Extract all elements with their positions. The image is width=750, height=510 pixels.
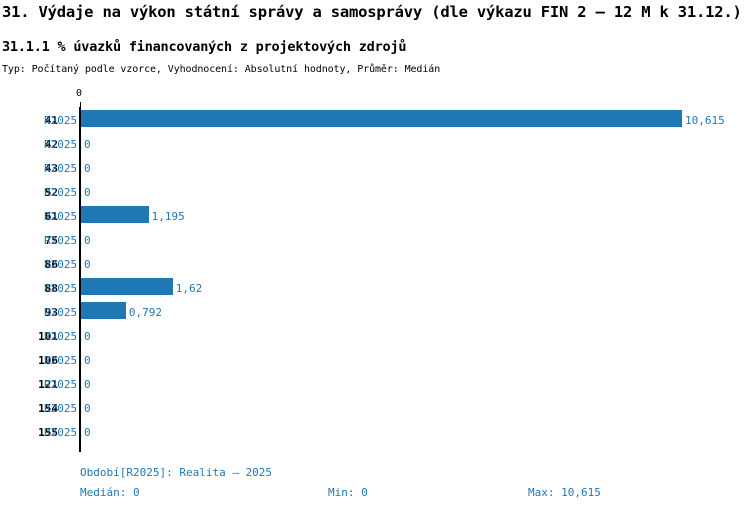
row-series-label: R2025 (44, 378, 77, 391)
bar-row: 93R20250,792 (0, 299, 750, 323)
bar-row: 88R20251,62 (0, 275, 750, 299)
stat-min: Min: 0 (328, 486, 368, 499)
legend-period: Období[R2025]: Realita – 2025 (80, 466, 272, 479)
bar-value-label: 0 (84, 234, 91, 247)
row-series-label: R2025 (44, 162, 77, 175)
row-series-label: R2025 (44, 330, 77, 343)
x-axis-tick-label-0: 0 (76, 88, 82, 99)
bar[interactable] (81, 278, 173, 295)
chart-page: 31. Výdaje na výkon státní správy a samo… (0, 0, 750, 510)
bar-value-label: 0 (84, 426, 91, 439)
bar-value-label: 0 (84, 258, 91, 271)
row-series-label: R2025 (44, 138, 77, 151)
bar-value-label: 10,615 (685, 114, 725, 127)
bar-value-label: 0 (84, 186, 91, 199)
page-title: 31. Výdaje na výkon státní správy a samo… (2, 3, 742, 21)
bar-row: 154R20250 (0, 395, 750, 419)
bar-row: 86R20250 (0, 251, 750, 275)
bar-row: 155R20250 (0, 419, 750, 443)
bar-value-label: 1,62 (176, 282, 203, 295)
row-series-label: R2025 (44, 306, 77, 319)
row-series-label: R2025 (44, 258, 77, 271)
bar-value-label: 0,792 (129, 306, 162, 319)
bar[interactable] (81, 302, 126, 319)
bar-value-label: 0 (84, 378, 91, 391)
row-series-label: R2025 (44, 282, 77, 295)
row-series-label: R2025 (44, 354, 77, 367)
row-series-label: R2025 (44, 114, 77, 127)
bar-row: 101R20250 (0, 323, 750, 347)
bar[interactable] (81, 206, 149, 223)
stat-max: Max: 10,615 (528, 486, 601, 499)
row-series-label: R2025 (44, 186, 77, 199)
bar-row: 121R20250 (0, 371, 750, 395)
bar[interactable] (81, 110, 682, 127)
bar-row: 106R20250 (0, 347, 750, 371)
stat-median: Medián: 0 (80, 486, 140, 499)
bar-value-label: 1,195 (152, 210, 185, 223)
bar-row: 43R20250 (0, 155, 750, 179)
bar-value-label: 0 (84, 402, 91, 415)
chart-meta-line: Typ: Počítaný podle vzorce, Vyhodnocení:… (2, 64, 440, 75)
row-series-label: R2025 (44, 234, 77, 247)
bar-value-label: 0 (84, 354, 91, 367)
bar-row: 52R20250 (0, 179, 750, 203)
bar-chart: 0 41R202510,61542R2025043R2025052R202506… (0, 88, 750, 468)
row-series-label: R2025 (44, 210, 77, 223)
bar-value-label: 0 (84, 330, 91, 343)
bar-value-label: 0 (84, 138, 91, 151)
section-heading: 31.1.1 % úvazků financovaných z projekto… (2, 39, 406, 55)
bar-row: 42R20250 (0, 131, 750, 155)
bar-row: 75R20250 (0, 227, 750, 251)
row-series-label: R2025 (44, 426, 77, 439)
bar-value-label: 0 (84, 162, 91, 175)
bar-row: 61R20251,195 (0, 203, 750, 227)
row-series-label: R2025 (44, 402, 77, 415)
bar-row: 41R202510,615 (0, 107, 750, 131)
